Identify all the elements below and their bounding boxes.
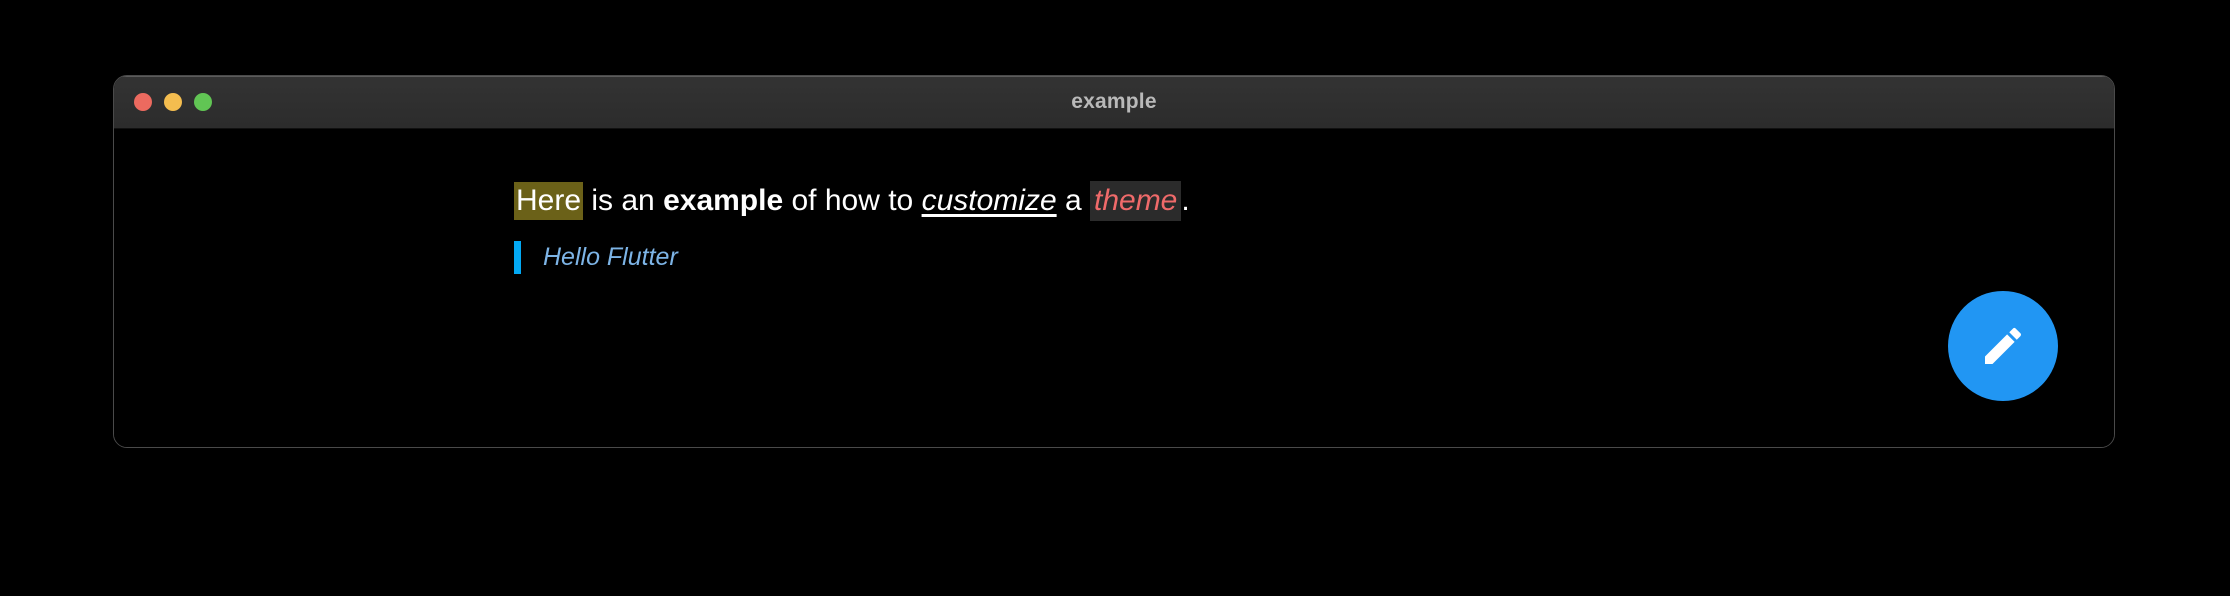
text-segment-italic-underline: customize [922,184,1057,217]
text-segment-highlight: Here [514,182,583,220]
edit-fab-button[interactable] [1948,291,2058,401]
minimize-button[interactable] [164,93,182,111]
text-segment-bold: example [663,184,783,217]
window-title: example [114,76,2114,128]
window-controls [134,93,212,111]
text-segment-period: . [1181,184,1189,217]
text-segment-plain-1: is an [583,184,663,217]
maximize-button[interactable] [194,93,212,111]
pencil-icon [1979,322,2027,370]
app-window: example Here is an example of how to cus… [113,75,2115,448]
close-button[interactable] [134,93,152,111]
blockquote: Hello Flutter [514,241,678,274]
window-titlebar[interactable]: example [114,76,2114,129]
blockquote-text: Hello Flutter [543,243,678,271]
rich-text-paragraph: Here is an example of how to customize a… [514,181,1714,221]
text-segment-theme: theme [1090,181,1181,221]
text-segment-plain-2: of how to [783,184,921,217]
window-content: Here is an example of how to customize a… [114,129,2114,447]
text-segment-plain-3: a [1057,184,1090,217]
markdown-body: Here is an example of how to customize a… [514,181,1714,274]
screen-canvas: example Here is an example of how to cus… [0,0,2230,596]
